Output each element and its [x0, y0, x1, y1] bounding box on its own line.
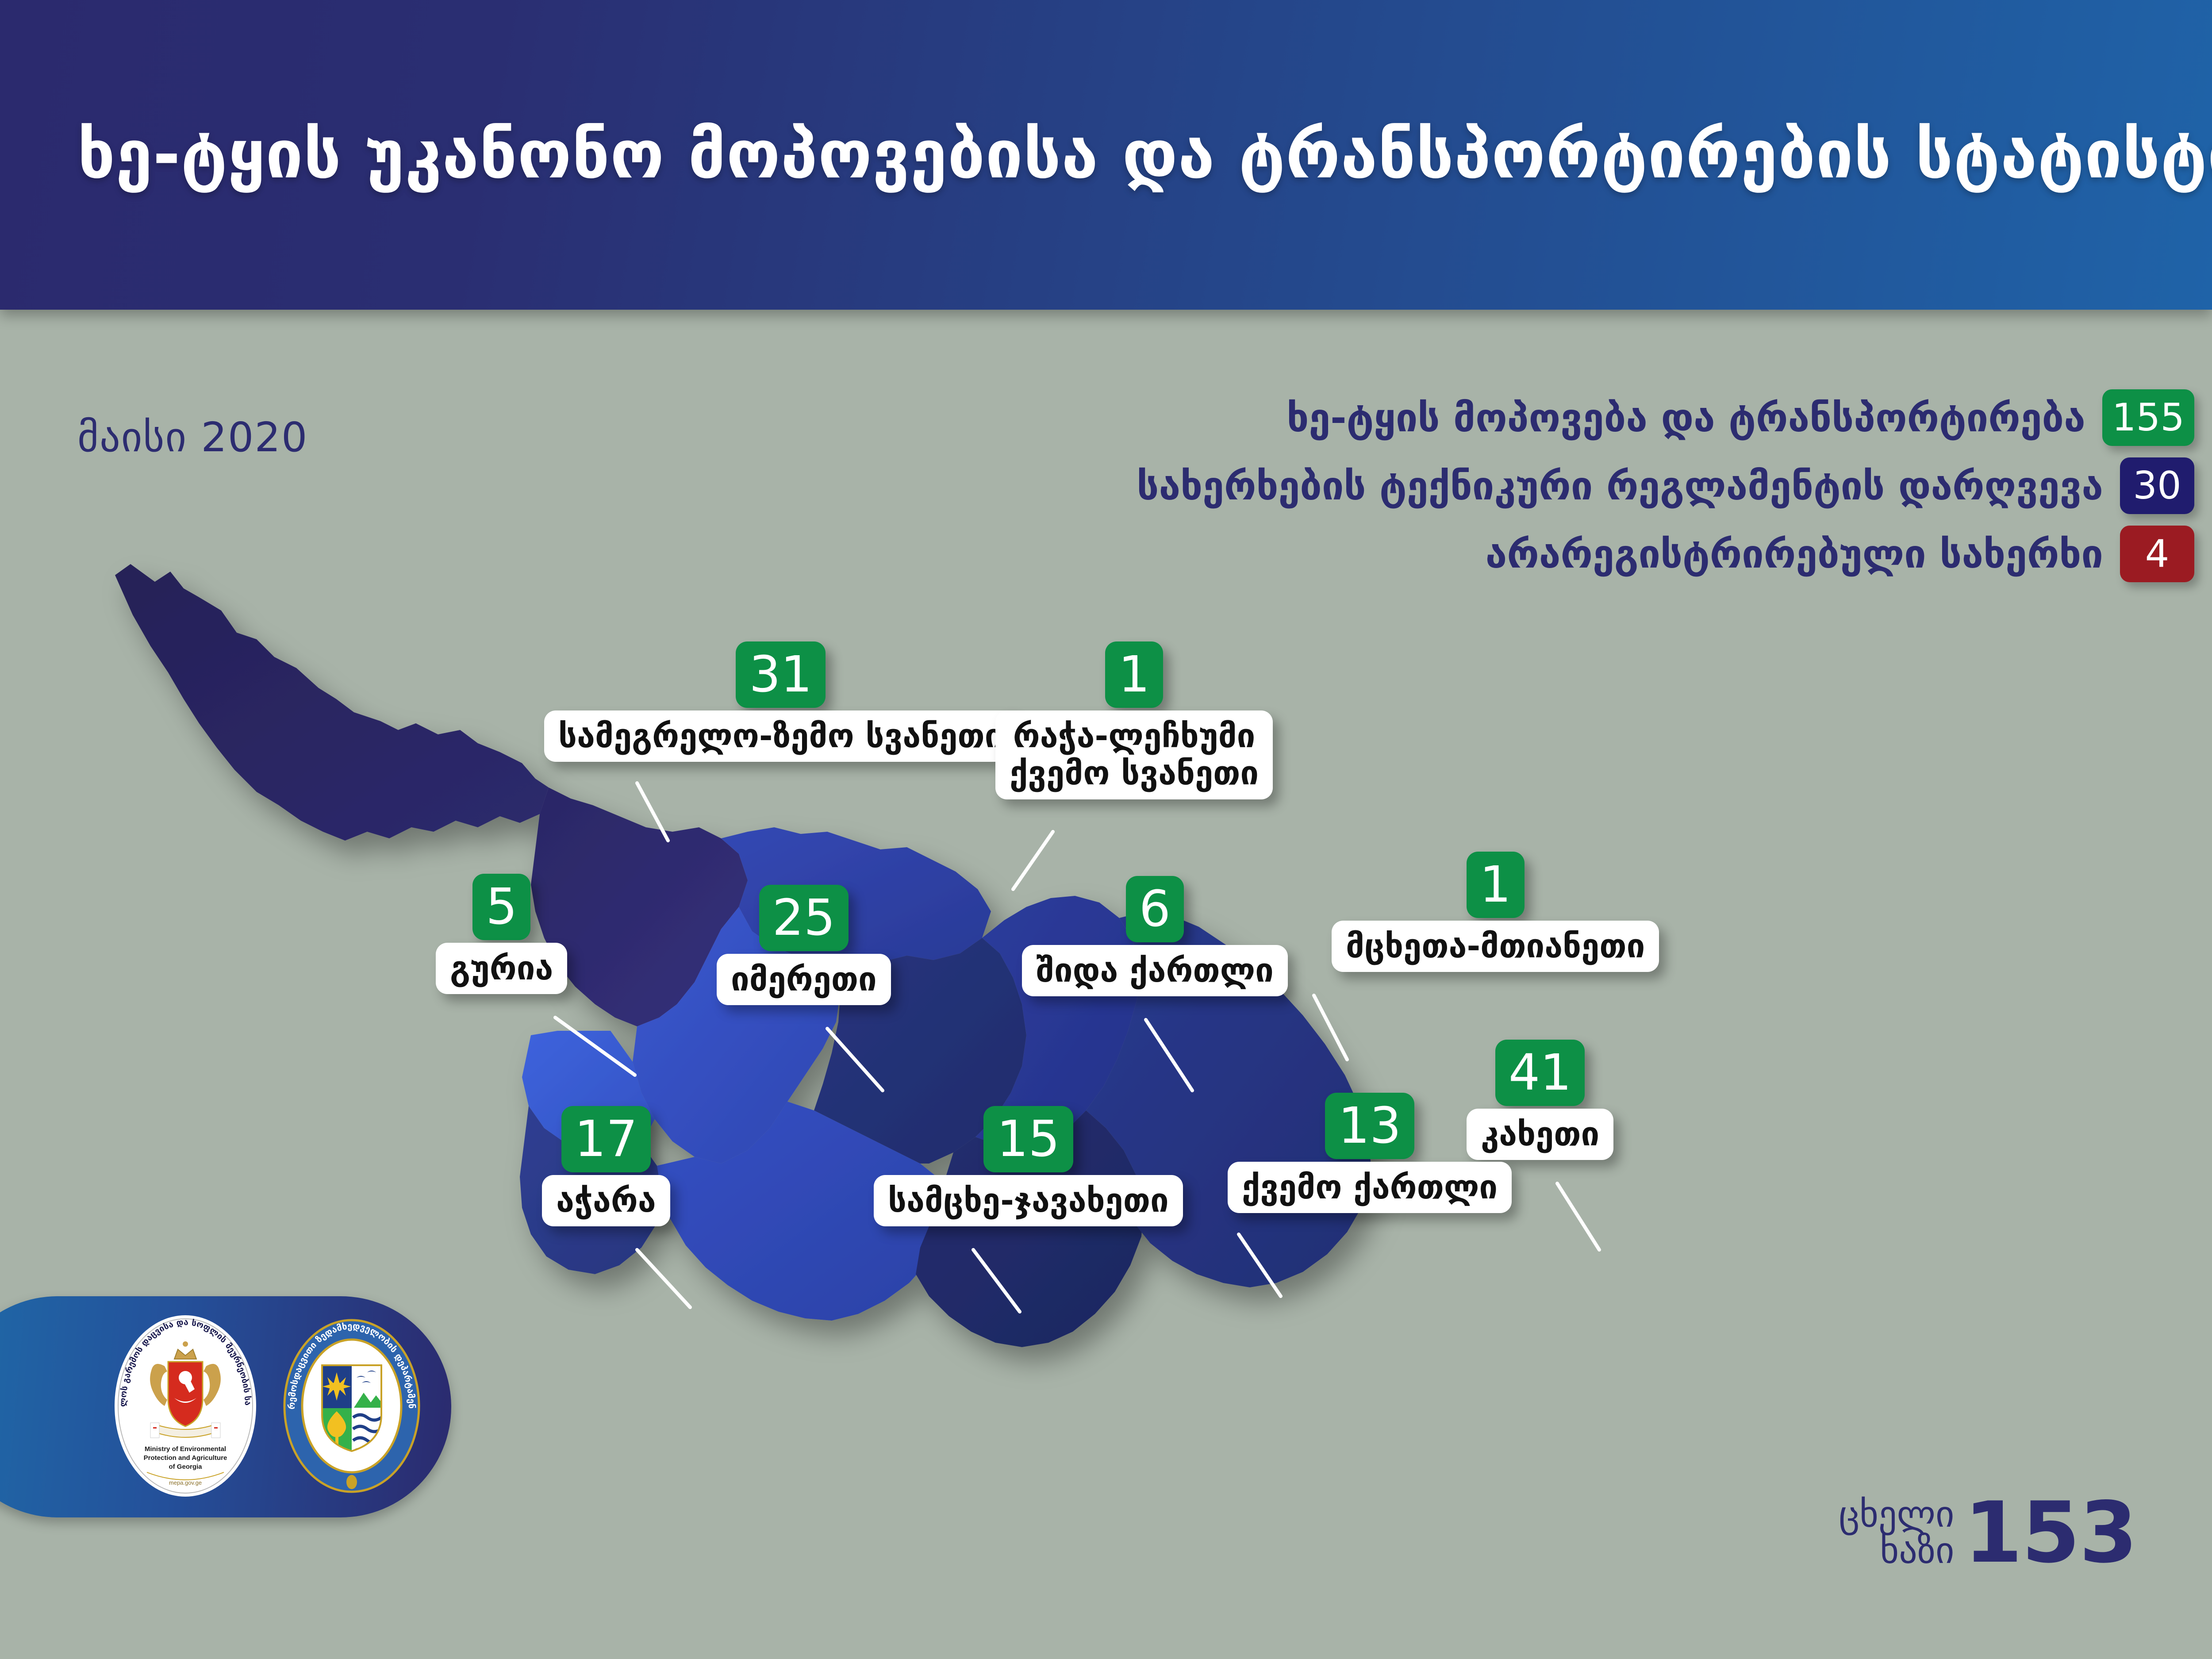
map-pin[interactable]: 25იმერეთი: [717, 885, 891, 1005]
map-pin-stack: 31სამეგრელო-ზემო სვანეთი: [544, 641, 1017, 762]
leader-kakheti: [1557, 1183, 1599, 1250]
map-pin-region-label: გურია: [436, 943, 567, 994]
emblem-mepa-site: mepa.gov.ge: [169, 1479, 202, 1486]
map-pin-stack: 17აჭარა: [542, 1106, 670, 1226]
map-pin-count-badge: 31: [736, 641, 826, 708]
map-pin-count-badge: 1: [1467, 852, 1525, 918]
emblem-mepa-name-en-1: Ministry of Environmental: [145, 1445, 226, 1453]
leader-ajara: [637, 1250, 690, 1307]
map-pin-stack: 25იმერეთი: [717, 885, 891, 1005]
legend-item-sawmill-regulation: სახერხების ტექნიკური რეგლამენტის დარღვევ…: [1000, 457, 2194, 514]
map-pin-region-label: მცხეთა-მთიანეთი: [1332, 921, 1659, 972]
map-pin-count-badge: 1: [1105, 641, 1163, 708]
emblem-supervision-department: გარემოსდაცვითი ზედამხედველობის დეპარტამე…: [279, 1313, 425, 1501]
map-pin-region-label: ქვემო ქართლი: [1228, 1162, 1512, 1213]
hotline-label: ცხელი ხაზი: [1839, 1497, 1954, 1569]
map-pin[interactable]: 15სამცხე-ჯავახეთი: [874, 1106, 1183, 1226]
map-pin[interactable]: 13ქვემო ქართლი: [1228, 1093, 1512, 1213]
map-pin-count-badge: 5: [472, 874, 530, 940]
emblem-mepa: Ministry of Environmental Protection and…: [112, 1313, 258, 1501]
hotline-number: 153: [1964, 1495, 2137, 1571]
map-pin[interactable]: 31სამეგრელო-ზემო სვანეთი: [544, 641, 1017, 762]
map-pin[interactable]: 6შიდა ქართლი: [1022, 876, 1288, 996]
map-pin-region-label: სამეგრელო-ზემო სვანეთი: [544, 710, 1017, 762]
map-pin[interactable]: 17აჭარა: [542, 1106, 670, 1226]
date-label: მაისი 2020: [77, 414, 308, 461]
map-pin-stack: 15სამცხე-ჯავახეთი: [874, 1106, 1183, 1226]
map-pin-stack: 1რაჭა-ლეჩხუმი ქვემო სვანეთი: [995, 641, 1273, 799]
map-pin-region-label: სამცხე-ჯავახეთი: [874, 1175, 1183, 1226]
legend-label: სახერხების ტექნიკური რეგლამენტის დარღვევ…: [1137, 463, 2103, 509]
map-pin-region-label: შიდა ქართლი: [1022, 945, 1288, 996]
hotline-label-line2: ხაზი: [1839, 1533, 1954, 1569]
legend-label: ხე-ტყის მოპოვება და ტრანსპორტირება: [1286, 395, 2085, 441]
infographic-canvas: ხე-ტყის უკანონო მოპოვებისა და ტრანსპორტი…: [0, 0, 2212, 1659]
emblem-mepa-name-en-2: Protection and Agriculture: [144, 1454, 227, 1462]
hotline-label-line1: ცხელი: [1839, 1497, 1954, 1533]
legend-badge-count: 155: [2102, 389, 2194, 446]
map-pin-stack: 1მცხეთა-მთიანეთი: [1332, 852, 1659, 972]
region-abkhazia: [115, 564, 549, 841]
map-pin[interactable]: 5გურია: [436, 874, 567, 994]
map-pin[interactable]: 1მცხეთა-მთიანეთი: [1332, 852, 1659, 972]
map-pin-count-badge: 17: [561, 1106, 651, 1172]
map-pin-region-label: იმერეთი: [717, 954, 891, 1005]
map-pin-region-label: რაჭა-ლეჩხუმი ქვემო სვანეთი: [995, 710, 1273, 799]
page-header: ხე-ტყის უკანონო მოპოვებისა და ტრანსპორტი…: [0, 0, 2212, 310]
map-pin[interactable]: 1რაჭა-ლეჩხუმი ქვემო სვანეთი: [995, 641, 1273, 799]
page-title: ხე-ტყის უკანონო მოპოვებისა და ტრანსპორტი…: [77, 122, 2212, 188]
map-pin-count-badge: 25: [759, 885, 849, 951]
map-pin-stack: 5გურია: [436, 874, 567, 994]
footer-logo-bar: Ministry of Environmental Protection and…: [0, 1296, 451, 1517]
hotline: ცხელი ხაზი 153: [1839, 1495, 2137, 1571]
map-pin-count-badge: 6: [1126, 876, 1184, 942]
legend-item-harvest-transport: ხე-ტყის მოპოვება და ტრანსპორტირება 155: [1000, 389, 2194, 446]
map-pin-stack: 13ქვემო ქართლი: [1228, 1093, 1512, 1213]
map-pin-count-badge: 13: [1325, 1093, 1415, 1159]
map-pin-region-label: აჭარა: [542, 1175, 670, 1226]
emblem-mepa-name-en-3: of Georgia: [169, 1463, 202, 1471]
legend-badge-count: 30: [2120, 457, 2194, 514]
map-pin-count-badge: 15: [983, 1106, 1073, 1172]
map-pin-stack: 6შიდა ქართლი: [1022, 876, 1288, 996]
